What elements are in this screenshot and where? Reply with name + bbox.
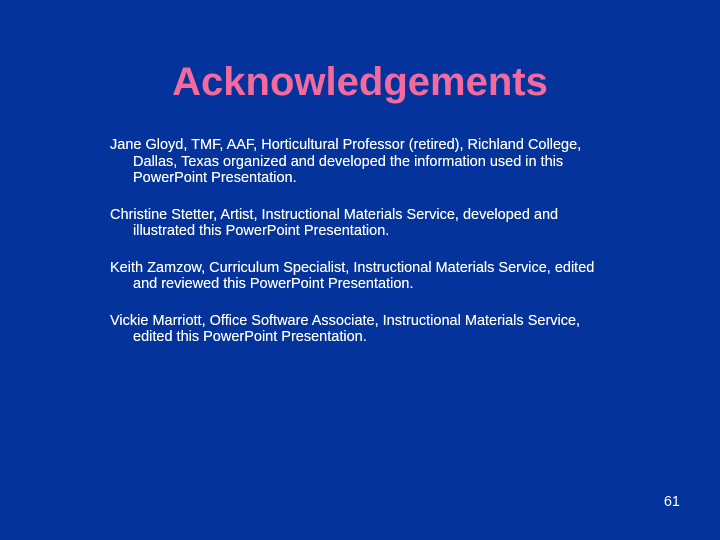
page-number: 61	[640, 494, 680, 511]
acknowledgements-list: Jane Gloyd, TMF, AAF, Horticultural Prof…	[110, 137, 610, 346]
presentation-slide: Acknowledgements Jane Gloyd, TMF, AAF, H…	[0, 0, 720, 540]
list-item: Christine Stetter, Artist, Instructional…	[110, 207, 610, 240]
list-item: Keith Zamzow, Curriculum Specialist, Ins…	[110, 260, 610, 293]
list-item: Vickie Marriott, Office Software Associa…	[110, 313, 610, 346]
list-item: Jane Gloyd, TMF, AAF, Horticultural Prof…	[110, 137, 610, 187]
page-title: Acknowledgements	[0, 59, 720, 105]
